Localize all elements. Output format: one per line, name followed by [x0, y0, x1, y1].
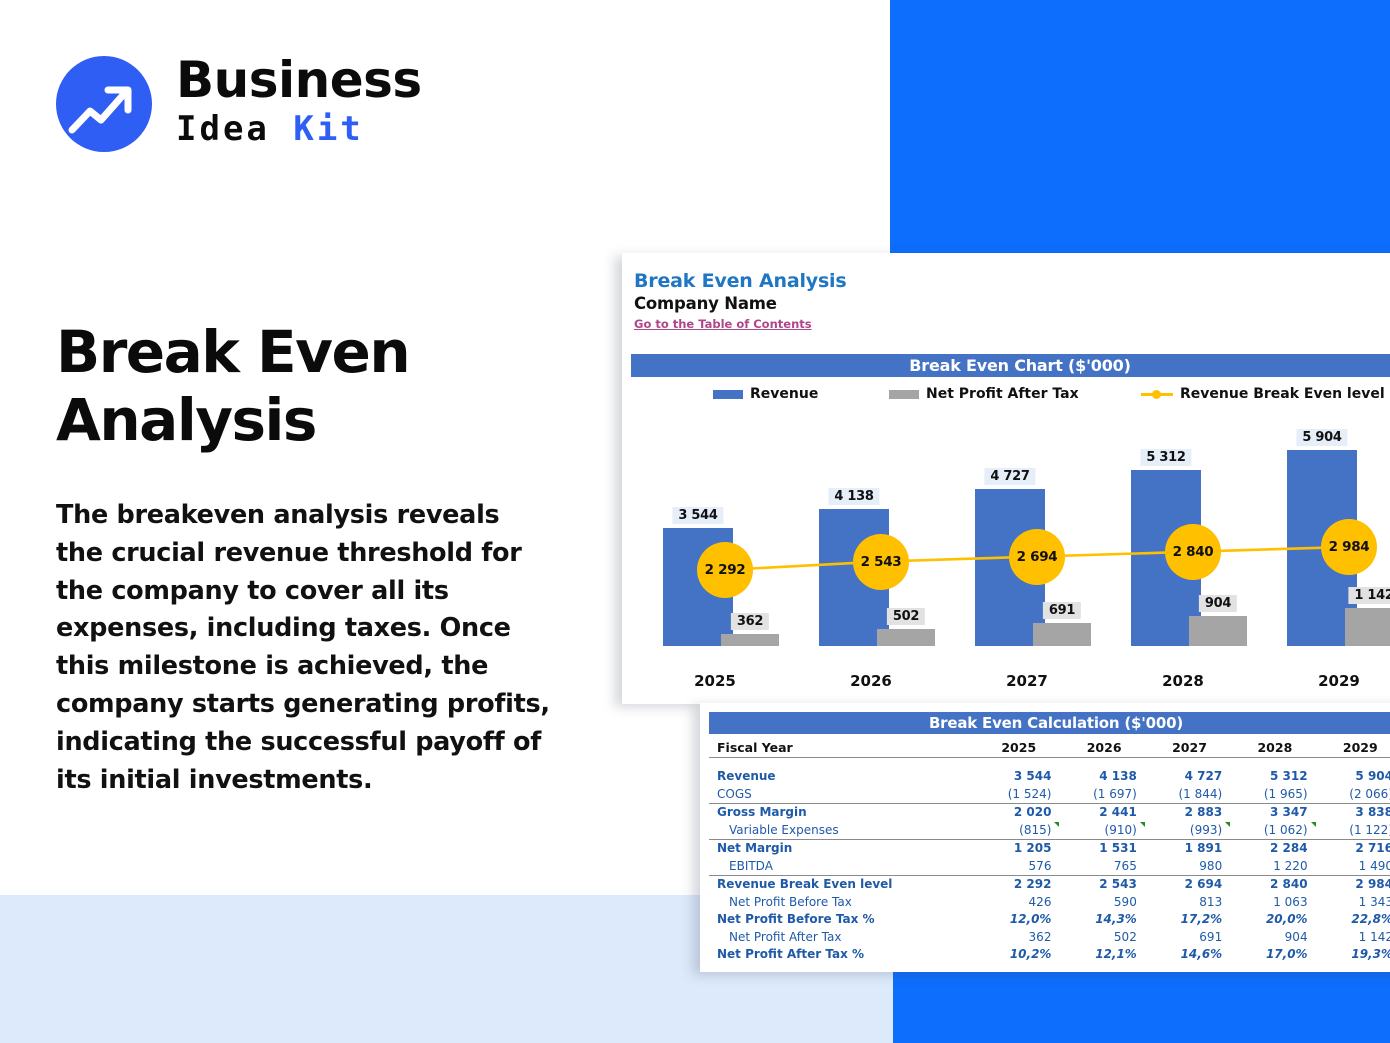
table-cell-value: (1 844): [1147, 785, 1232, 803]
revenue-data-label: 5 312: [1140, 449, 1191, 466]
net-profit-after-tax-bar[interactable]: [721, 634, 779, 646]
table-cell-value: 1 531: [1061, 839, 1146, 857]
table-cell-value: 12,0%: [976, 911, 1061, 929]
table-cell-value: 5 904: [1318, 768, 1390, 786]
table-cell-value: 362: [976, 928, 1061, 946]
table-cell-value: 426: [976, 893, 1061, 911]
table-cell-value: 2 694: [1147, 875, 1232, 893]
table-row-label: Gross Margin: [709, 803, 976, 821]
table-header-year: 2027: [1147, 739, 1232, 757]
background-panel-bottom-right: [893, 972, 1390, 1043]
table-cell-value: 1 205: [976, 839, 1061, 857]
table-cell-value: 1 343: [1318, 893, 1390, 911]
chart-x-axis-label: 2026: [793, 672, 949, 690]
table-cell-value: 2 543: [1061, 875, 1146, 893]
table-cell-value: 813: [1147, 893, 1232, 911]
break-even-marker[interactable]: 2 543: [853, 534, 909, 590]
legend-line-marker-icon: [1141, 388, 1173, 400]
table-cell-value: 14,6%: [1147, 946, 1232, 964]
net-profit-after-tax-data-label: 1 142: [1348, 587, 1390, 604]
net-profit-after-tax-data-label: 362: [731, 613, 769, 630]
table-cell-value: 3 544: [976, 768, 1061, 786]
table-cell-value: 1 891: [1147, 839, 1232, 857]
table-cell-value: 1 220: [1232, 857, 1317, 875]
table-cell-value: 2 020: [976, 803, 1061, 821]
chart-x-axis-label: 2028: [1105, 672, 1261, 690]
background-panel-top-right: [890, 0, 1390, 262]
table-cell-value: (1 062): [1232, 821, 1317, 839]
table-cell-value: 2 441: [1061, 803, 1146, 821]
table-header-year: 2029: [1318, 739, 1390, 757]
table-row-label: Net Profit After Tax: [709, 928, 976, 946]
table-cell-value: (1 697): [1061, 785, 1146, 803]
legend-bar-swatch-icon: [889, 390, 919, 399]
table-row: Net Profit Before Tax %12,0%14,3%17,2%20…: [709, 911, 1390, 929]
table-cell-value: 576: [976, 857, 1061, 875]
table-of-contents-link[interactable]: Go to the Table of Contents: [634, 317, 812, 331]
break-even-marker[interactable]: 2 292: [697, 542, 753, 598]
table-cell-value: 3 347: [1232, 803, 1317, 821]
table-cell-value: (1 524): [976, 785, 1061, 803]
table-cell-value: 17,2%: [1147, 911, 1232, 929]
table-cell-value: (1 122): [1318, 821, 1390, 839]
net-profit-after-tax-data-label: 691: [1043, 602, 1081, 619]
table-row-label: Net Margin: [709, 839, 976, 857]
table-row-label: Revenue Break Even level: [709, 875, 976, 893]
table-header-year: 2028: [1232, 739, 1317, 757]
table-cell-value: (993): [1147, 821, 1232, 839]
legend-bar-swatch-icon: [713, 390, 743, 399]
table-cell-value: 4 727: [1147, 768, 1232, 786]
table-row: Revenue3 5444 1384 7275 3125 904: [709, 768, 1390, 786]
table-cell-value: 590: [1061, 893, 1146, 911]
table-cell-value: (1 965): [1232, 785, 1317, 803]
net-profit-after-tax-bar[interactable]: [1189, 616, 1247, 646]
table-cell-value: 4 138: [1061, 768, 1146, 786]
break-even-calculation-table: Fiscal Year20252026202720282029Revenue3 …: [709, 739, 1390, 963]
table-row-label: Net Profit Before Tax: [709, 893, 976, 911]
table-cell-value: 19,3%: [1318, 946, 1390, 964]
logo-wordmark-secondary: Idea Kit: [176, 108, 466, 150]
table-row: Net Profit After Tax %10,2%12,1%14,6%17,…: [709, 946, 1390, 964]
chart-x-axis-label: 2027: [949, 672, 1105, 690]
table-row-label: Variable Expenses: [709, 821, 976, 839]
table-row: Net Margin1 2051 5311 8912 2842 716: [709, 839, 1390, 857]
logo-wordmark-primary: Business: [176, 52, 466, 108]
revenue-data-label: 4 727: [984, 468, 1035, 485]
table-cell-value: 20,0%: [1232, 911, 1317, 929]
page-description: The breakeven analysis reveals the cruci…: [56, 497, 551, 799]
net-profit-after-tax-bar[interactable]: [877, 629, 935, 646]
table-header-year: 2026: [1061, 739, 1146, 757]
legend-item-label: Revenue: [750, 386, 818, 402]
logo-word-kit: Kit: [293, 109, 363, 149]
sheet-title: Break Even Analysis: [634, 270, 846, 292]
table-cell-value: 502: [1061, 928, 1146, 946]
table-cell-value: 1 142: [1318, 928, 1390, 946]
trend-arrow-icon: [56, 56, 152, 152]
net-profit-after-tax-data-label: 904: [1199, 595, 1237, 612]
chart-plot-area: 3 54436220254 13850220264 72769120275 31…: [631, 413, 1390, 698]
chart-categories: 3 54436220254 13850220264 72769120275 31…: [631, 413, 1390, 698]
table-cell-value: (2 066): [1318, 785, 1390, 803]
break-even-marker[interactable]: 2 984: [1321, 519, 1377, 575]
table-cell-value: 2 984: [1318, 875, 1390, 893]
table-row: Net Profit After Tax3625026919041 142: [709, 928, 1390, 946]
chart-banner-title: Break Even Chart ($'000): [631, 354, 1390, 377]
table-cell-value: 765: [1061, 857, 1146, 875]
table-cell-value: 904: [1232, 928, 1317, 946]
table-cell-value: 980: [1147, 857, 1232, 875]
table-cell-value: 1 063: [1232, 893, 1317, 911]
table-row-label: Revenue: [709, 768, 976, 786]
table-cell-value: 12,1%: [1061, 946, 1146, 964]
table-cell-value: 691: [1147, 928, 1232, 946]
chart-x-axis-label: 2025: [637, 672, 793, 690]
break-even-marker[interactable]: 2 694: [1009, 529, 1065, 585]
revenue-data-label: 4 138: [828, 488, 879, 505]
table-cell-value: 2 840: [1232, 875, 1317, 893]
table-cell-value: 2 292: [976, 875, 1061, 893]
sheet-company-name: Company Name: [634, 294, 777, 313]
table-row: Revenue Break Even level2 2922 5432 6942…: [709, 875, 1390, 893]
page-title: Break EvenAnalysis: [56, 318, 576, 454]
net-profit-after-tax-data-label: 502: [887, 608, 925, 625]
table-spacer-row: [709, 757, 1390, 768]
table-header-row: Fiscal Year20252026202720282029: [709, 739, 1390, 757]
legend-item-0[interactable]: Revenue: [713, 383, 818, 405]
legend-item-1[interactable]: Net Profit After Tax: [889, 383, 1079, 405]
table-row-label: COGS: [709, 785, 976, 803]
table-row: Variable Expenses(815)(910)(993)(1 062)(…: [709, 821, 1390, 839]
break-even-calculation-card: Break Even Calculation ($'000) Fiscal Ye…: [700, 703, 1390, 972]
comment-flag-icon: [1140, 822, 1145, 827]
brand-logo: Business Idea Kit: [56, 52, 456, 162]
comment-flag-icon: [1311, 822, 1316, 827]
table-row-label: EBITDA: [709, 857, 976, 875]
legend-item-2[interactable]: Revenue Break Even level: [1141, 383, 1385, 405]
table-cell-value: 2 284: [1232, 839, 1317, 857]
table-row: Gross Margin2 0202 4412 8833 3473 838: [709, 803, 1390, 821]
table-cell-value: 10,2%: [976, 946, 1061, 964]
table-row-label: Net Profit Before Tax %: [709, 911, 976, 929]
table-row: Net Profit Before Tax4265908131 0631 343: [709, 893, 1390, 911]
net-profit-after-tax-bar[interactable]: [1345, 608, 1390, 646]
table-row: COGS(1 524)(1 697)(1 844)(1 965)(2 066): [709, 785, 1390, 803]
comment-flag-icon: [1225, 822, 1230, 827]
logo-word-idea: Idea: [176, 109, 293, 149]
table-header-label: Fiscal Year: [709, 739, 976, 757]
table-header-year: 2025: [976, 739, 1061, 757]
table-cell-value: 2 883: [1147, 803, 1232, 821]
break-even-marker[interactable]: 2 840: [1165, 524, 1221, 580]
revenue-data-label: 3 544: [672, 507, 723, 524]
table-row: EBITDA5767659801 2201 490: [709, 857, 1390, 875]
table-cell-value: 17,0%: [1232, 946, 1317, 964]
revenue-data-label: 5 904: [1296, 429, 1347, 446]
table-cell-value: (910): [1061, 821, 1146, 839]
legend-item-label: Revenue Break Even level: [1180, 386, 1385, 402]
table-cell-value: 22,8%: [1318, 911, 1390, 929]
table-cell-value: 2 716: [1318, 839, 1390, 857]
break-even-chart-card: Break Even Analysis Company Name Go to t…: [622, 253, 1390, 704]
table-cell-value: 3 838: [1318, 803, 1390, 821]
comment-flag-icon: [1054, 822, 1059, 827]
chart-legend: RevenueNet Profit After TaxRevenue Break…: [631, 383, 1390, 405]
net-profit-after-tax-bar[interactable]: [1033, 623, 1091, 646]
table-row-label: Net Profit After Tax %: [709, 946, 976, 964]
table-cell-value: 1 490: [1318, 857, 1390, 875]
legend-item-label: Net Profit After Tax: [926, 386, 1079, 402]
table-cell-value: 5 312: [1232, 768, 1317, 786]
table-banner-title: Break Even Calculation ($'000): [709, 712, 1390, 734]
table-cell-value: (815): [976, 821, 1061, 839]
chart-x-axis-label: 2029: [1261, 672, 1390, 690]
table-cell-value: 14,3%: [1061, 911, 1146, 929]
